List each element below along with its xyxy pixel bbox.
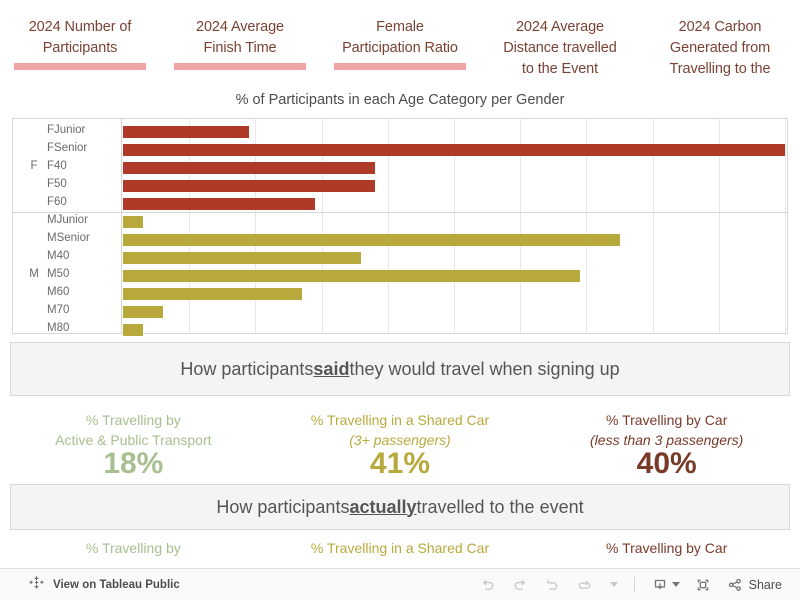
chart-row-label: F60 — [47, 196, 67, 208]
kpi-cell: 2024 Average Finish Time00:32:55 — [160, 0, 320, 88]
chart-row[interactable]: FSenior — [13, 141, 787, 159]
kpi-value: 00:32:55 — [180, 57, 300, 83]
chart-row[interactable]: M50 — [13, 267, 787, 285]
chart-bar[interactable] — [123, 126, 249, 138]
pause-auto-update-button[interactable] — [601, 572, 624, 598]
kpi-rule — [334, 63, 465, 70]
kpi-value: 24% — [370, 57, 430, 83]
chart-row-label: M50 — [47, 268, 69, 280]
banner-said-pre: How participants — [180, 359, 313, 380]
undo-button[interactable] — [473, 572, 503, 598]
chart-row-label: F50 — [47, 178, 67, 190]
chart-gender-label: M — [23, 268, 45, 280]
travel-said-cell: % Travelling by Car(less than 3 passenge… — [533, 410, 800, 482]
view-on-tableau-public-button[interactable]: View on Tableau Public — [0, 574, 180, 596]
toolbar-actions: Share — [473, 572, 800, 598]
chevron-down-icon — [610, 582, 618, 587]
chart-row-label: MJunior — [47, 214, 88, 226]
redo-button[interactable] — [505, 572, 535, 598]
banner-actual-pre: How participants — [216, 497, 349, 518]
chart-bar[interactable] — [123, 162, 375, 174]
chart-bar[interactable] — [123, 216, 143, 228]
banner-actual-emphasis: actually — [349, 497, 416, 518]
chart-row[interactable]: M70 — [13, 303, 787, 321]
tableau-dashboard: 2024 Number of Participants452024 Averag… — [0, 0, 800, 600]
chart-row[interactable]: F40 — [13, 159, 787, 177]
chart-row[interactable]: F60 — [13, 195, 787, 213]
download-button[interactable] — [645, 572, 686, 598]
chart-row[interactable]: F50 — [13, 177, 787, 195]
banner-said-post: they would travel when signing up — [349, 359, 619, 380]
chart-row[interactable]: M80 — [13, 321, 787, 339]
kpi-title: 2024 Average Finish Time — [196, 17, 284, 59]
tableau-logo-icon — [28, 574, 45, 596]
chart-row-label: M70 — [47, 304, 69, 316]
banner-said: How participants said they would travel … — [10, 342, 790, 396]
travel-value: 18% — [103, 451, 163, 477]
travel-title: % Travelling in a Shared Car — [311, 410, 489, 430]
chart-bar[interactable] — [123, 234, 620, 246]
travel-said-strip: % Travelling by Active & Public Transpor… — [0, 410, 800, 482]
kpi-cell: Female Participation Ratio24% — [320, 0, 480, 88]
age-gender-bar-chart[interactable]: FJuniorFSeniorF40F50F60FMJuniorMSeniorM4… — [12, 118, 788, 334]
travel-value: 40% — [637, 451, 697, 477]
chart-bar[interactable] — [123, 180, 375, 192]
refresh-button[interactable] — [569, 572, 599, 598]
travel-title: % Travelling in a Shared Car — [311, 538, 489, 558]
chart-bar[interactable] — [123, 144, 785, 156]
chart-row-label: M40 — [47, 250, 69, 262]
chart-bar[interactable] — [123, 324, 143, 336]
chart-bar[interactable] — [123, 288, 302, 300]
revert-button[interactable] — [537, 572, 567, 598]
kpi-cell: 2024 Number of Participants45 — [0, 0, 160, 88]
chart-row[interactable]: M60 — [13, 285, 787, 303]
chart-row[interactable]: MSenior — [13, 231, 787, 249]
banner-said-emphasis: said — [313, 359, 349, 380]
toolbar-divider — [634, 577, 635, 593]
share-button[interactable]: Share — [720, 572, 788, 598]
chart-bar[interactable] — [123, 270, 580, 282]
chart-row-label: FJunior — [47, 124, 85, 136]
chart-bar[interactable] — [123, 252, 361, 264]
tableau-toolbar: View on Tableau Public — [0, 568, 800, 600]
chart-row-label: FSenior — [47, 142, 87, 154]
travel-title: % Travelling by Active & Public Transpor… — [55, 410, 211, 450]
travel-title: % Travelling by Car — [606, 410, 727, 430]
chart-bar[interactable] — [123, 306, 163, 318]
chart-row[interactable]: FJunior — [13, 123, 787, 141]
kpi-rule — [174, 63, 305, 70]
chart-bar[interactable] — [123, 198, 315, 210]
kpi-cell: 2024 Average Distance travelled to the E… — [480, 0, 640, 88]
kpi-title: 2024 Average Distance travelled to the E… — [503, 17, 616, 80]
kpi-title: 2024 Carbon Generated from Travelling to… — [670, 17, 771, 80]
chevron-down-icon — [672, 582, 680, 587]
travel-title: % Travelling by Car — [606, 538, 727, 558]
chart-row-label: M60 — [47, 286, 69, 298]
kpi-cell: 2024 Carbon Generated from Travelling to… — [640, 0, 800, 88]
kpi-rule — [14, 63, 145, 70]
chart-row-label: M80 — [47, 322, 69, 334]
travel-title: % Travelling by — [86, 538, 181, 558]
view-on-tableau-public-label: View on Tableau Public — [53, 579, 180, 591]
travel-said-cell: % Travelling in a Shared Car(3+ passenge… — [267, 410, 534, 482]
chart-row[interactable]: M40 — [13, 249, 787, 267]
travel-value: 41% — [370, 451, 430, 477]
chart-gender-label: F — [23, 160, 45, 172]
chart-row-label: F40 — [47, 160, 67, 172]
chart-row-label: MSenior — [47, 232, 90, 244]
chart-row[interactable]: MJunior — [13, 213, 787, 231]
chart-title: % of Participants in each Age Category p… — [0, 92, 800, 108]
share-label: Share — [749, 578, 782, 592]
kpi-value: 45 — [63, 57, 96, 83]
kpi-title: Female Participation Ratio — [342, 17, 458, 59]
travel-said-cell: % Travelling by Active & Public Transpor… — [0, 410, 267, 482]
kpi-strip: 2024 Number of Participants452024 Averag… — [0, 0, 800, 88]
banner-actual-post: travelled to the event — [417, 497, 584, 518]
fullscreen-button[interactable] — [688, 572, 718, 598]
kpi-title: 2024 Number of Participants — [29, 17, 132, 59]
banner-actual: How participants actually travelled to t… — [10, 484, 790, 530]
